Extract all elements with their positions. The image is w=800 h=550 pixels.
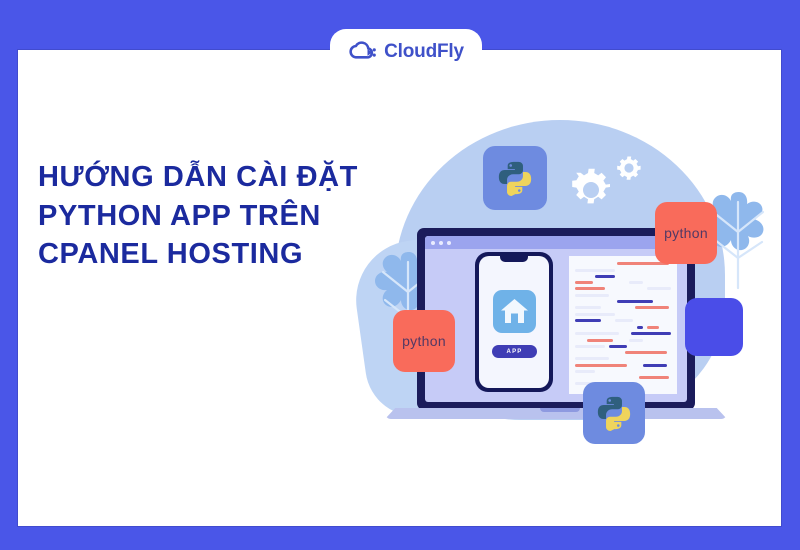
code-line	[575, 345, 605, 348]
python-logo-icon	[595, 394, 633, 432]
code-line	[575, 269, 615, 272]
phone-notch	[500, 256, 528, 262]
brand-logo[interactable]: CloudFly	[330, 29, 482, 73]
code-line	[575, 357, 609, 360]
code-line	[617, 300, 653, 303]
app-button[interactable]: APP	[492, 345, 537, 358]
page-title: HƯỚNG DẪN CÀI ĐẶT PYTHON APP TRÊN CPANEL…	[38, 158, 388, 274]
code-line	[637, 326, 643, 329]
code-line	[575, 370, 595, 373]
python-wordmark-right: python	[655, 202, 717, 264]
browser-dot-1	[431, 241, 435, 245]
title-line-3: CPANEL HOSTING	[38, 235, 388, 274]
code-line	[639, 376, 669, 379]
browser-titlebar	[425, 236, 687, 249]
python-tile-top-left[interactable]	[483, 146, 547, 210]
code-line	[587, 339, 613, 342]
code-line	[575, 281, 593, 284]
python-tile-right[interactable]: python	[655, 202, 717, 264]
browser-dot-3	[447, 241, 451, 245]
code-line	[647, 287, 671, 290]
cloud-icon	[348, 39, 378, 63]
title-line-2: PYTHON APP TRÊN	[38, 197, 388, 236]
code-line	[629, 281, 643, 284]
code-line	[575, 364, 627, 367]
code-line	[575, 313, 615, 316]
browser-dot-2	[439, 241, 443, 245]
code-document-panel	[569, 256, 677, 394]
hero-illustration: APP python python	[355, 100, 785, 480]
title-line-1: HƯỚNG DẪN CÀI ĐẶT	[38, 158, 388, 197]
app-icon-tile[interactable]	[493, 290, 536, 333]
python-tile-left[interactable]: python	[393, 310, 455, 372]
code-line	[629, 339, 643, 342]
python-tile-bottom[interactable]	[583, 382, 645, 444]
python-wordmark-left: python	[393, 310, 455, 372]
settings-gears-icon	[560, 148, 652, 224]
plain-tile-right[interactable]	[685, 298, 743, 356]
house-icon	[493, 290, 536, 333]
code-line	[631, 332, 671, 335]
code-line	[575, 319, 601, 322]
banner-card: CloudFly HƯỚNG DẪN CÀI ĐẶT PYTHON APP TR…	[0, 0, 800, 550]
code-line	[635, 306, 669, 309]
code-line	[625, 351, 667, 354]
code-line	[575, 306, 601, 309]
code-line	[647, 326, 659, 329]
code-line	[643, 364, 667, 367]
code-line	[575, 332, 619, 335]
code-line	[615, 319, 633, 322]
code-line	[575, 287, 605, 290]
laptop-hinge-notch	[540, 408, 580, 412]
python-logo-icon	[496, 159, 534, 197]
code-line	[609, 345, 627, 348]
brand-name: CloudFly	[384, 42, 464, 61]
code-line	[595, 275, 615, 278]
app-button-label: APP	[507, 349, 523, 355]
code-line	[575, 294, 609, 297]
